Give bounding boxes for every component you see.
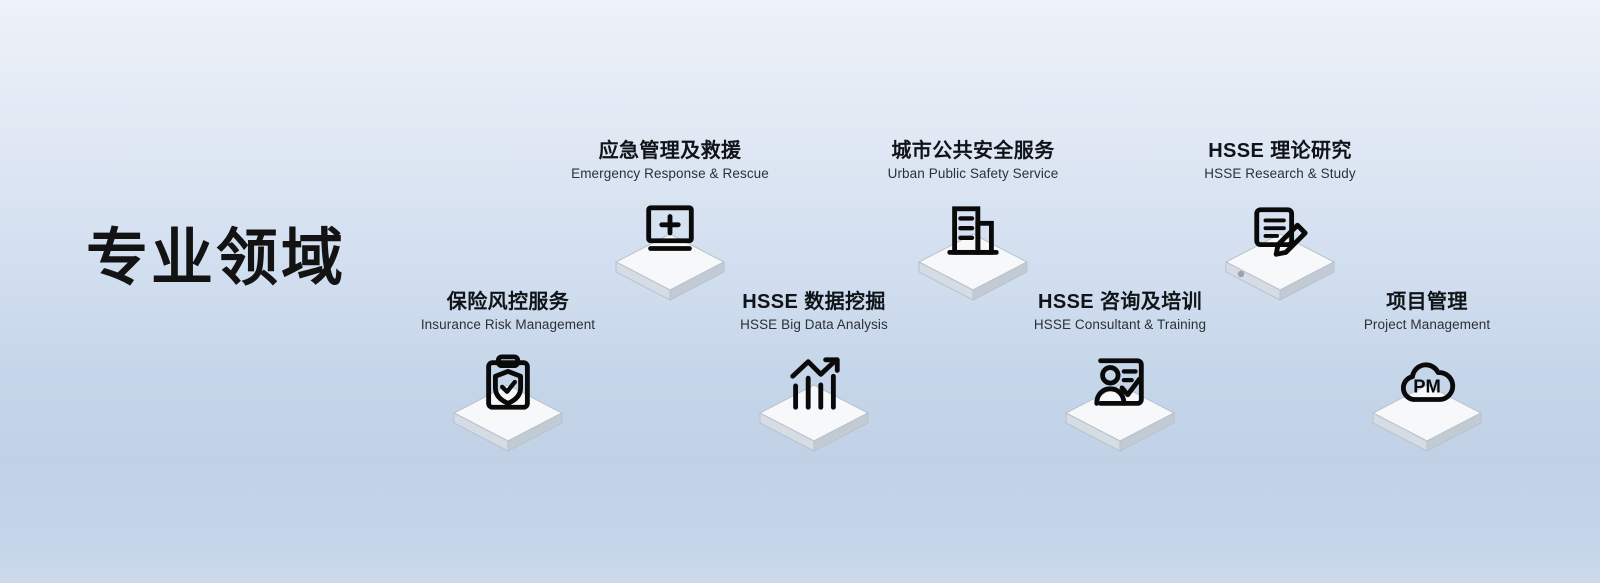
field-label-cn: 应急管理及救援 — [520, 140, 820, 163]
field-item-urban-public-safety[interactable]: 城市公共安全服务 Urban Public Safety Service — [823, 140, 1123, 308]
field-item-hsse-research[interactable]: HSSE 理论研究 HSSE Research & Study — [1130, 140, 1430, 308]
professional-fields-banner: 专业领域 应急管理及救援 Emergency Response & Rescue — [0, 0, 1600, 583]
field-label-cn: 项目管理 — [1277, 291, 1577, 314]
field-icon-pedestal — [970, 339, 1270, 459]
field-label-cn: HSSE 理论研究 — [1130, 140, 1430, 163]
document-pencil-icon — [1249, 202, 1311, 264]
first-aid-monitor-icon — [639, 202, 701, 264]
page-title: 专业领域 — [86, 228, 346, 290]
field-item-project-management[interactable]: 项目管理 Project Management PM — [1277, 291, 1577, 459]
field-icon-pedestal — [664, 339, 964, 459]
field-label-en: Emergency Response & Rescue — [520, 166, 820, 182]
field-label-en: Urban Public Safety Service — [823, 166, 1123, 182]
field-label-cn: HSSE 数据挖掘 — [664, 291, 964, 314]
field-item-emergency-response[interactable]: 应急管理及救援 Emergency Response & Rescue — [520, 140, 820, 308]
field-label-en: HSSE Consultant & Training — [970, 317, 1270, 333]
field-item-hsse-big-data[interactable]: HSSE 数据挖掘 HSSE Big Data Analysis — [664, 291, 964, 459]
person-card-check-icon — [1089, 353, 1151, 415]
cloud-icon-text: PM — [1413, 376, 1441, 397]
field-item-insurance-risk[interactable]: 保险风控服务 Insurance Risk Management — [358, 291, 658, 459]
field-label-en: Insurance Risk Management — [358, 317, 658, 333]
cloud-pm-icon: PM — [1396, 353, 1458, 415]
field-icon-pedestal: PM — [1277, 339, 1577, 459]
city-buildings-icon — [942, 202, 1004, 264]
field-label-en: Project Management — [1277, 317, 1577, 333]
bar-chart-trend-arrow-icon — [783, 353, 845, 415]
field-label-en: HSSE Big Data Analysis — [664, 317, 964, 333]
field-label-cn: HSSE 咨询及培训 — [970, 291, 1270, 314]
field-label-cn: 城市公共安全服务 — [823, 140, 1123, 163]
clipboard-shield-check-icon — [477, 353, 539, 415]
field-icon-pedestal — [358, 339, 658, 459]
field-label-en: HSSE Research & Study — [1130, 166, 1430, 182]
field-item-hsse-consultant[interactable]: HSSE 咨询及培训 HSSE Consultant & Training — [970, 291, 1270, 459]
field-label-cn: 保险风控服务 — [358, 291, 658, 314]
